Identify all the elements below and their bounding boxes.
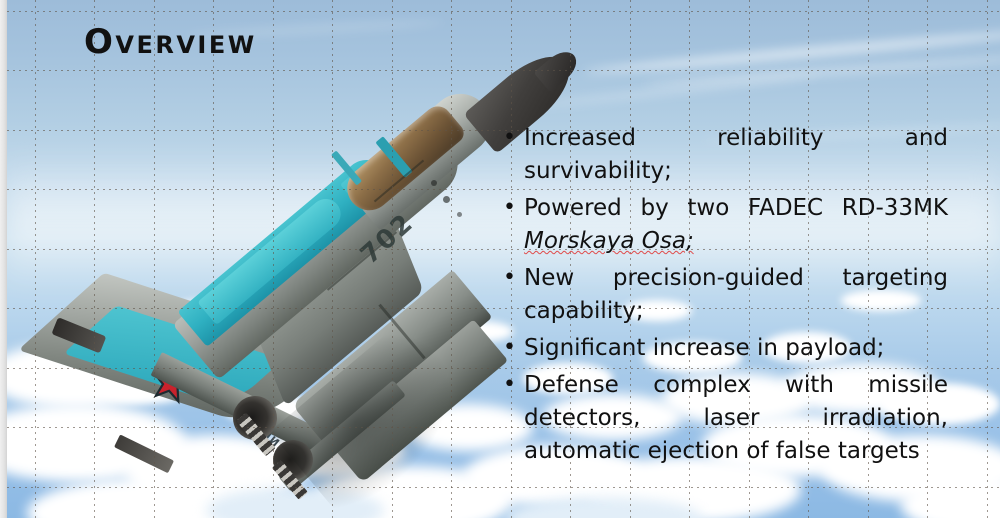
bullet-text-italic-misspelled: Morskaya Osa; <box>524 228 694 254</box>
list-item[interactable]: Powered by two FADEC RD-33MK Morskaya Os… <box>498 192 948 258</box>
bullet-text: Increased reliability and survivability; <box>524 125 948 184</box>
bullet-text: Powered by two FADEC RD-33MK <box>524 195 948 221</box>
list-item[interactable]: Increased reliability and survivability; <box>498 122 948 188</box>
list-item[interactable]: Defense complex with missile detectors, … <box>498 369 948 468</box>
slide-left-margin <box>0 0 7 518</box>
presentation-slide: ВВС РОССИИ <box>0 0 1000 518</box>
bullet-list: Increased reliability and survivability;… <box>498 122 948 468</box>
bullet-text: Defense complex with missile detectors, … <box>524 372 948 464</box>
list-item[interactable]: New precision-guided targeting capabilit… <box>498 262 948 328</box>
page-title[interactable]: Overview <box>84 25 257 59</box>
bullet-content-block[interactable]: Increased reliability and survivability;… <box>498 122 948 468</box>
list-item[interactable]: Significant increase in payload; <box>498 332 948 365</box>
bullet-text: New precision-guided targeting capabilit… <box>524 265 948 324</box>
bullet-text: Significant increase in payload; <box>524 335 884 361</box>
